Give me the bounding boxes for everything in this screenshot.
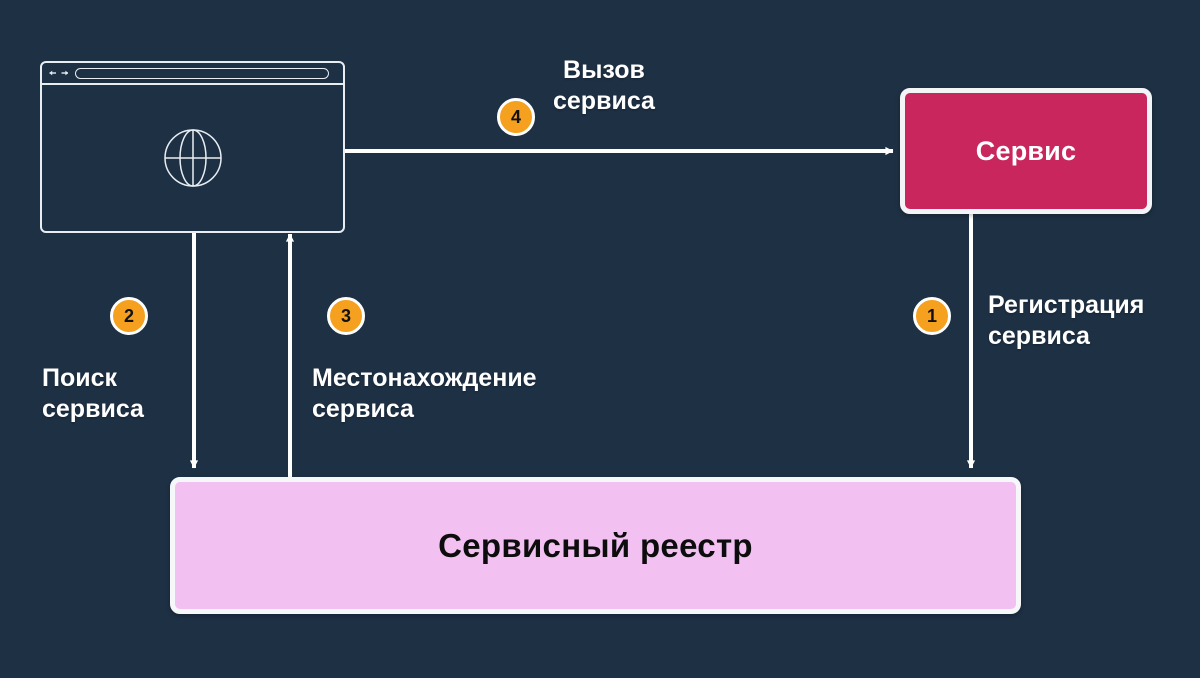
step-badge-2[interactable]: 2: [110, 297, 148, 335]
service-registry-node-label: Сервисный реестр: [438, 527, 753, 565]
browser-address-bar[interactable]: [75, 68, 329, 79]
step-label-3: Местонахождение сервиса: [312, 363, 537, 424]
globe-icon: [163, 128, 223, 188]
browser-viewport: [42, 85, 343, 231]
step-badge-3[interactable]: 3: [327, 297, 365, 335]
diagram-canvas: Сервис Сервисный реестр 1 2 3 4 Регистра…: [0, 0, 1200, 678]
step-label-4: Вызов сервиса: [553, 55, 655, 116]
step-badge-1-number: 1: [927, 307, 937, 325]
step-label-2: Поиск сервиса: [42, 363, 144, 424]
client-browser-window: [40, 61, 345, 233]
step-badge-4[interactable]: 4: [497, 98, 535, 136]
step-badge-2-number: 2: [124, 307, 134, 325]
browser-titlebar: [42, 63, 343, 85]
step-badge-3-number: 3: [341, 307, 351, 325]
browser-nav-arrows-icon[interactable]: [48, 68, 70, 78]
service-node[interactable]: Сервис: [900, 88, 1152, 214]
service-node-label: Сервис: [976, 136, 1076, 167]
step-label-1: Регистрация сервиса: [988, 290, 1144, 351]
step-badge-1[interactable]: 1: [913, 297, 951, 335]
step-badge-4-number: 4: [511, 108, 521, 126]
service-registry-node[interactable]: Сервисный реестр: [170, 477, 1021, 614]
